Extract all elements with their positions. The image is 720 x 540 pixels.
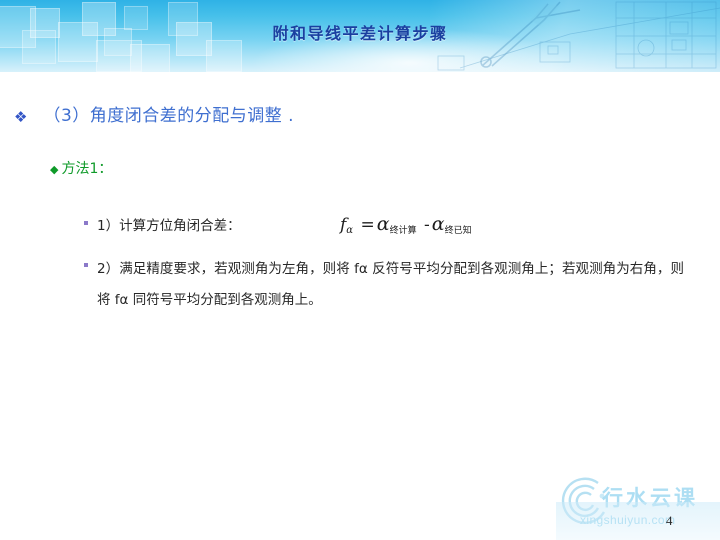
watermark: 行水云课 xingshuiyun.com: [556, 470, 720, 540]
square-bullet-icon: [84, 263, 88, 267]
list-item: 2）满足精度要求，若观测角为左角，则将 fα 反符号平均分配到各观测角上；若观测…: [84, 254, 684, 316]
page-title: 附和导线平差计算步骤: [0, 20, 720, 44]
bullet-level1: ❖ （3）角度闭合差的分配与调整 .: [14, 105, 294, 127]
decorative-square: [206, 40, 242, 72]
page-number: 4: [666, 513, 673, 529]
bullet-level2: ◆ 方法1：: [50, 160, 112, 179]
bullet-level1-label: （3）角度闭合差的分配与调整 .: [43, 105, 294, 127]
formula-term2: α: [432, 213, 445, 235]
formula-term1: α: [377, 213, 390, 235]
watermark-url: xingshuiyun.com: [580, 513, 675, 527]
slide-canvas: 附和导线平差计算步骤 ❖ （3）角度闭合差的分配与调整 . ◆ 方法1： 1）计…: [0, 0, 720, 540]
slide-header-banner: 附和导线平差计算步骤: [0, 0, 720, 72]
formula-term1-subscript: 终计算: [390, 226, 417, 236]
bullet-level2-label: 方法1：: [61, 160, 112, 179]
formula-alpha-closure: fα =α终计算 -α终已知: [340, 213, 472, 236]
decorative-square: [130, 44, 170, 72]
formula-operator: -: [422, 215, 432, 235]
formula-equals: =: [358, 215, 376, 235]
square-bullet-icon: [84, 221, 88, 225]
diamond-bullet-icon: ❖: [14, 107, 27, 127]
formula-lhs-subscript: α: [346, 225, 353, 236]
list-item-label: 2）满足精度要求，若观测角为左角，则将 fα 反符号平均分配到各观测角上；若观测…: [97, 254, 684, 316]
list-item-label: 1）计算方位角闭合差：: [97, 212, 241, 241]
list-item: 1）计算方位角闭合差：: [84, 212, 241, 241]
formula-term2-subscript: 终已知: [445, 226, 472, 236]
green-diamond-bullet-icon: ◆: [50, 160, 58, 179]
